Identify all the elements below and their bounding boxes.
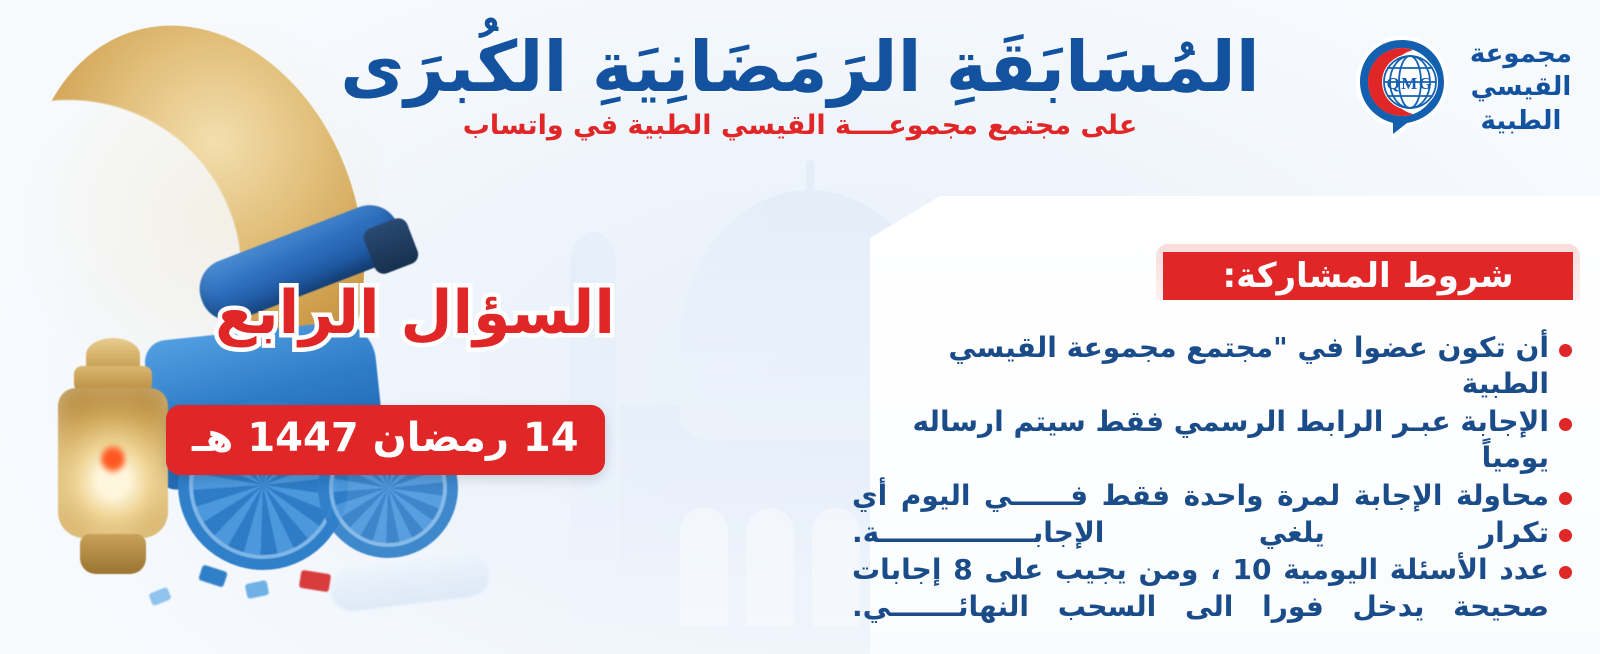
bullet-dot-icon <box>1559 529 1572 542</box>
list-item: محاولة الإجابة لمرة واحدة فقط فــــــي ا… <box>852 478 1572 514</box>
list-item-label: محاولة الإجابة لمرة واحدة فقط فــــــي ا… <box>852 478 1549 514</box>
confetti-piece <box>148 587 171 607</box>
ramadan-lantern-icon <box>52 338 174 588</box>
confetti-piece <box>245 580 270 599</box>
ramadan-competition-banner: مجموعة القيسي الطبية QMG <box>0 0 1600 654</box>
lantern-base <box>80 534 146 574</box>
list-item-label: عدد الأسئلة اليومية 10 ، ومن يجيب على 8 … <box>852 552 1549 625</box>
brand-logo-line-2: القيسي <box>1470 71 1572 104</box>
date-badge: 14 رمضان 1447 هـ <box>166 405 605 475</box>
mosque-arch <box>680 508 728 626</box>
conditions-list: أن تكون عضوا في "مجتمع مجموعة القيسي الط… <box>852 330 1572 626</box>
bullet-dot-icon <box>1559 566 1572 579</box>
list-item: تكرار يلغي الإجابــــــــــــــــة. <box>852 515 1572 551</box>
lantern-flame <box>100 444 126 474</box>
conditions-heading: شروط المشاركة: <box>1163 252 1573 300</box>
bullet-dot-icon <box>1559 418 1572 431</box>
brand-logo-text: مجموعة القيسي الطبية <box>1470 38 1572 138</box>
confetti-piece <box>299 570 331 592</box>
list-item: أن تكون عضوا في "مجتمع مجموعة القيسي الط… <box>852 330 1572 403</box>
bullet-dot-icon <box>1559 344 1572 357</box>
list-item-label: الإجابة عبـر الرابط الرسمي فقط سيتم ارسا… <box>852 404 1549 477</box>
brand-logo: مجموعة القيسي الطبية QMG <box>1348 30 1572 146</box>
mosque-arch <box>746 508 794 626</box>
list-item-label: تكرار يلغي الإجابــــــــــــــــة. <box>852 515 1549 551</box>
list-item: عدد الأسئلة اليومية 10 ، ومن يجيب على 8 … <box>852 552 1572 625</box>
brand-logo-line-1: مجموعة <box>1470 38 1572 71</box>
confetti-piece <box>198 564 228 587</box>
brand-logo-line-3: الطبية <box>1470 105 1572 138</box>
list-item-label: أن تكون عضوا في "مجتمع مجموعة القيسي الط… <box>852 330 1549 403</box>
qmg-globe-crescent-logo-icon: QMG <box>1348 30 1456 146</box>
bullet-dot-icon <box>1559 492 1572 505</box>
decorative-plate <box>328 550 492 613</box>
list-item: الإجابة عبـر الرابط الرسمي فقط سيتم ارسا… <box>852 404 1572 477</box>
svg-text:QMG: QMG <box>1386 74 1433 93</box>
question-headline: السؤال الرابع <box>215 283 615 343</box>
